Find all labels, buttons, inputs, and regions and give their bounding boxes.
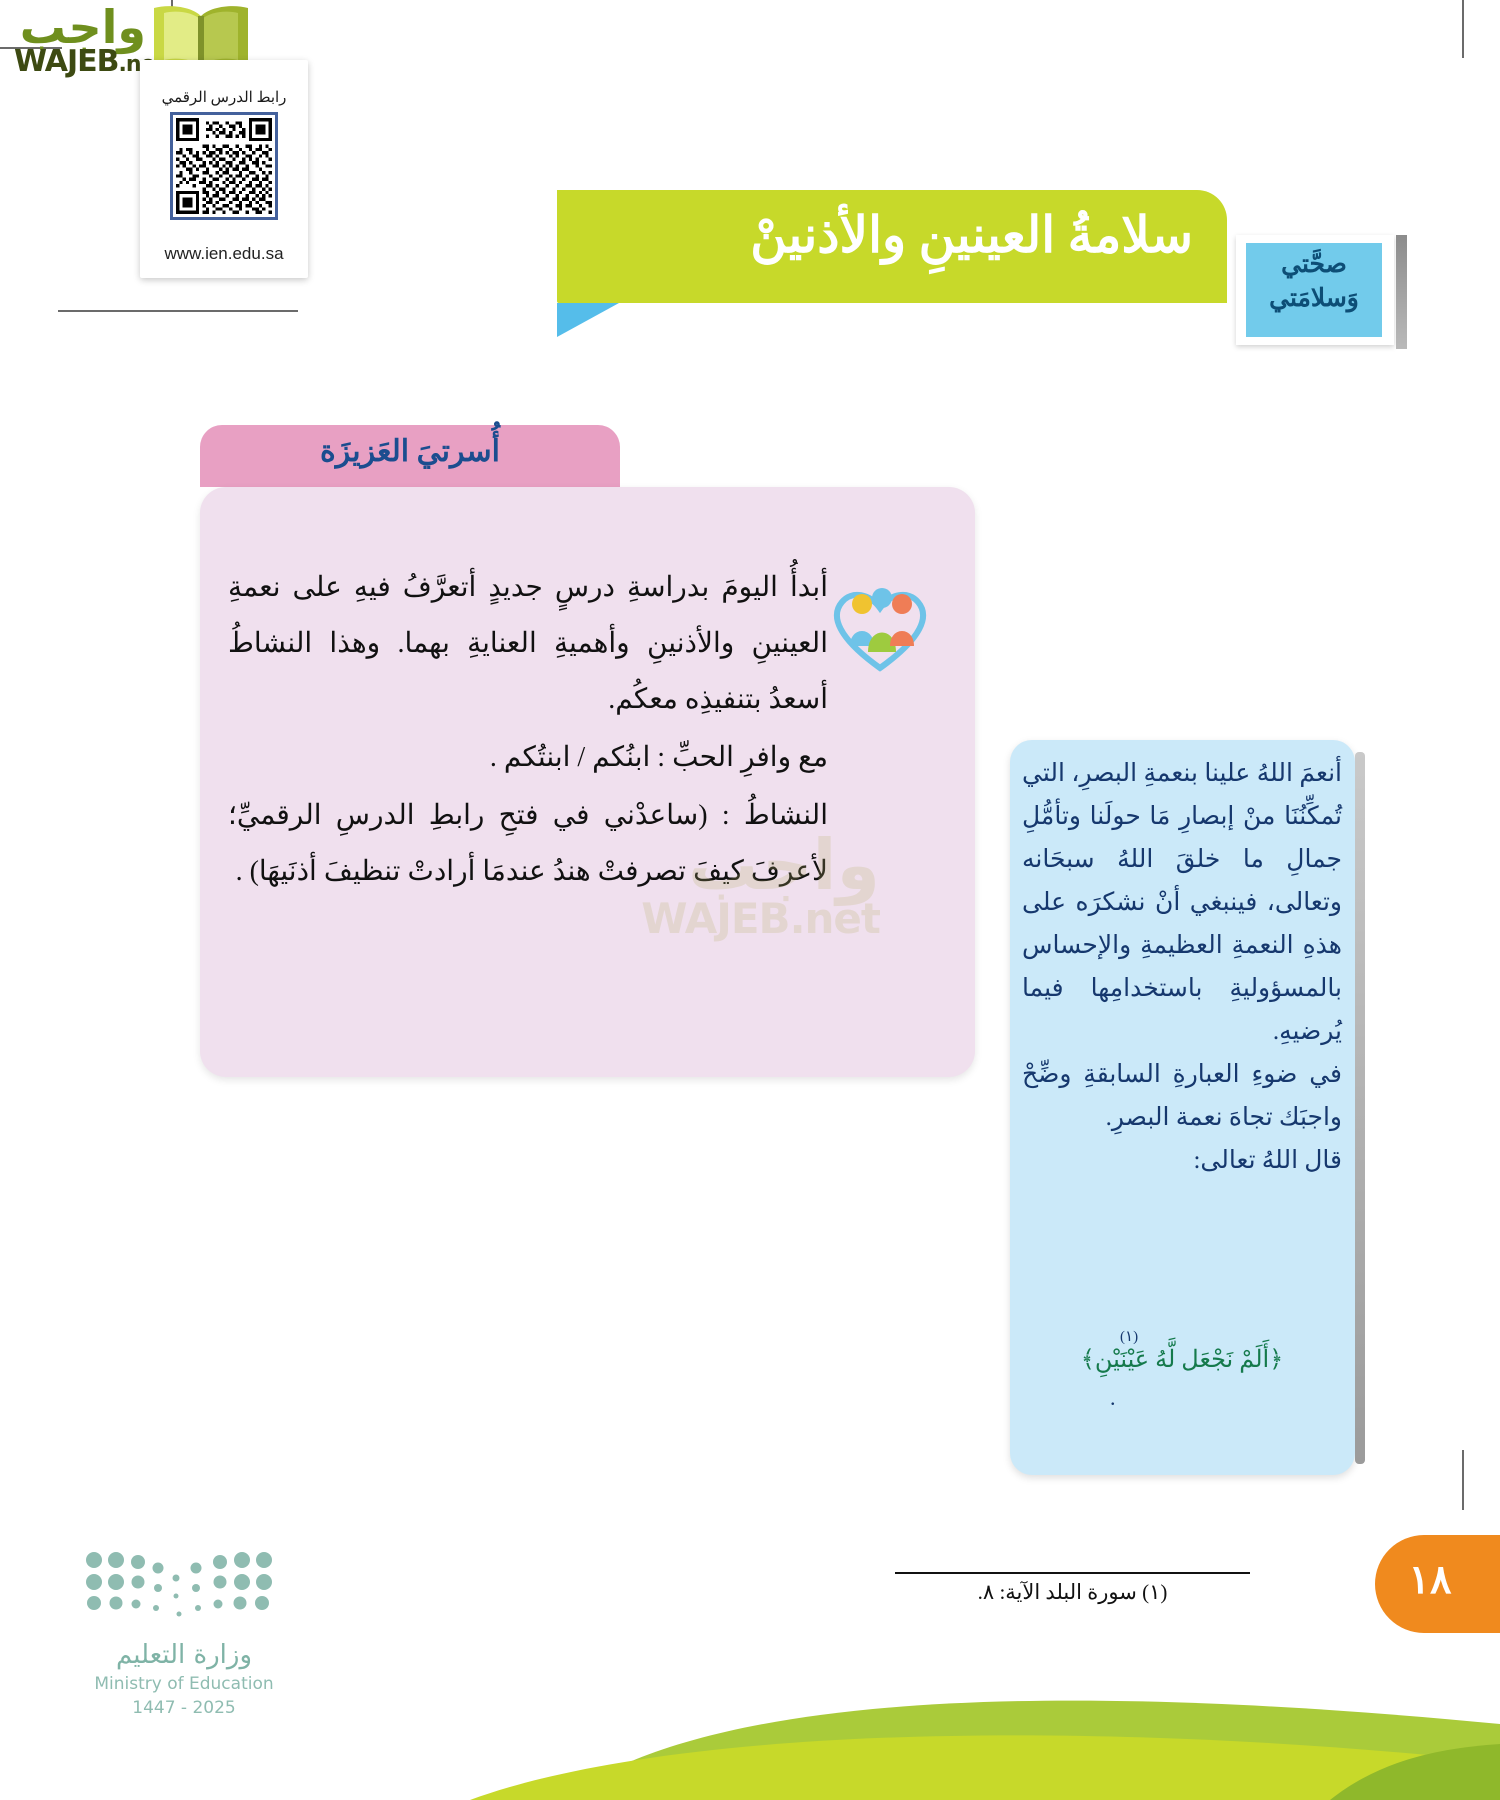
ayah-footnote-marker: (١) — [1120, 1327, 1138, 1346]
family-heart-icon — [820, 560, 940, 680]
blessing-of-sight-text: أنعمَ اللهُ علينا بنعمةِ البصرِ، التي تُ… — [1022, 752, 1342, 1182]
ayah-trailing-dot: . — [1110, 1385, 1116, 1411]
blue-paragraph-2: في ضوءِ العبارةِ السابقةِ وضِّحْ واجبَك … — [1022, 1053, 1342, 1139]
main-concepts-box: المَفاهيمُ الرَّئيسة العينَان. الأُذنان.… — [1040, 425, 1390, 745]
textbook-page: واجب WAJEB.net رابط الدرس الرقمي — [0, 0, 1500, 1800]
page-number: ١٨ — [1375, 1556, 1485, 1603]
quran-verse: ﴿أَلَمْ نَجْعَل لَّهُ عَيْنَيْنِ﴾ — [1022, 1345, 1342, 1374]
moe-dots-icon — [84, 1548, 274, 1628]
family-box-heading: أُسرتيَ العَزيزَة — [200, 434, 620, 469]
family-box-text: أبدأُ اليومَ بدراسةِ درسٍ جديدٍ أتعرَّفُ… — [228, 560, 828, 902]
footnote-text: (١) سورة البلد الآية: ٨. — [895, 1580, 1250, 1605]
footnote-divider — [895, 1572, 1250, 1574]
footer-swoosh-svg — [0, 1620, 1500, 1800]
family-paragraph-1: أبدأُ اليومَ بدراسةِ درسٍ جديدٍ أتعرَّفُ… — [228, 560, 828, 728]
unit-tab-spine — [1396, 235, 1407, 349]
qr-code-svg — [176, 118, 272, 214]
blue-paragraph-3: قال اللهُ تعالى: — [1022, 1139, 1342, 1182]
blue-box-spine — [1355, 752, 1365, 1464]
qr-card-label: رابط الدرس الرقمي — [140, 88, 308, 107]
qr-code-icon[interactable] — [170, 112, 278, 220]
crop-mark-bottom-right-vertical — [1462, 1450, 1464, 1510]
crop-mark-middle-left-horizontal — [58, 310, 298, 312]
unit-tab-label: صحَّتي وَسلامَتي — [1246, 248, 1382, 316]
footer-decoration — [0, 1620, 1500, 1800]
qr-card-url[interactable]: www.ien.edu.sa — [140, 244, 308, 264]
blue-paragraph-1: أنعمَ اللهُ علينا بنعمةِ البصرِ، التي تُ… — [1022, 752, 1342, 1053]
unit-tab-line-1: صحَّتي — [1246, 248, 1382, 282]
page-title: سلامةُ العينينِ والأذنينْ — [750, 206, 1193, 264]
title-banner-fold — [557, 303, 619, 337]
digital-lesson-qr-card[interactable]: رابط الدرس الرقمي — [140, 60, 308, 278]
crop-mark-top-right-vertical — [1462, 0, 1464, 58]
lesson-title-banner: سلامةُ العينينِ والأذنينْ — [557, 190, 1227, 303]
family-paragraph-2: مع وافرِ الحبِّ : ابنُكم / ابنتُكم . — [228, 730, 828, 786]
unit-tab-line-2: وَسلامَتي — [1246, 282, 1382, 316]
family-paragraph-3: النشاطُ : (ساعدْني في فتحِ رابطِ الدرسِ … — [228, 788, 828, 900]
